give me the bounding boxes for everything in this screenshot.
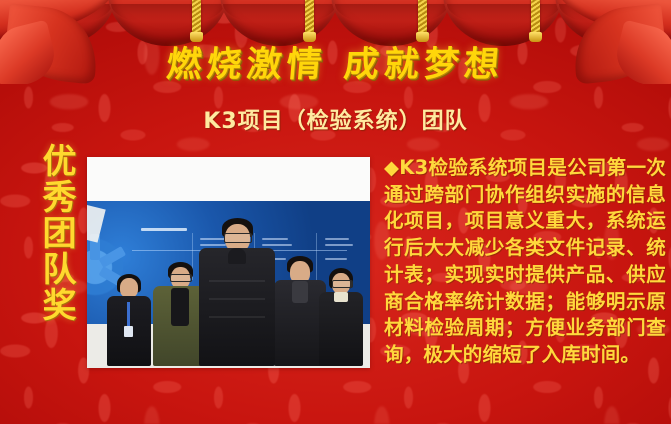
gold-cord-icon xyxy=(418,0,427,34)
team-member xyxy=(317,268,365,368)
award-label-vertical: 优秀团队奖 xyxy=(33,143,73,323)
team-member xyxy=(105,272,153,368)
poster-canvas: 燃烧激情 成就梦想 K3项目（检验系统）团队 优秀团队奖 xyxy=(0,0,671,424)
gold-cord-icon xyxy=(192,0,201,34)
team-photo-frame xyxy=(87,157,370,368)
poster-headline: 燃烧激情 成就梦想 xyxy=(0,36,671,87)
gold-cord-icon xyxy=(305,0,314,34)
team-photo xyxy=(87,157,370,368)
gold-cord-icon xyxy=(531,0,540,34)
photo-wall-upper xyxy=(87,157,370,201)
poster-subtitle: K3项目（检验系统）团队 xyxy=(0,103,671,135)
project-description: ◆K3检验系统项目是公司第一次通过跨部门协作组织实施的信息化项目，项目意义重大，… xyxy=(384,155,666,369)
team-member-center xyxy=(197,218,277,368)
